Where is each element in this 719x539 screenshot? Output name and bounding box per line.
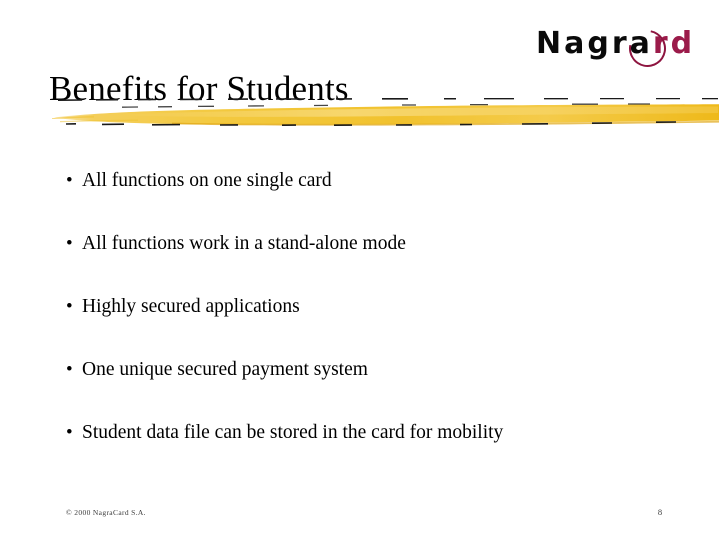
bullet-marker-icon: • — [66, 357, 82, 383]
bullet-list: •All functions on one single card •All f… — [66, 168, 686, 483]
list-item: •Student data file can be stored in the … — [66, 420, 686, 483]
footer-copyright: © 2000 NagraCard S.A. — [66, 508, 146, 518]
list-item-label: Highly secured applications — [82, 296, 300, 317]
logo-text-nagr: Nagr — [536, 26, 630, 61]
bullet-marker-icon: • — [66, 231, 82, 257]
bullet-marker-icon: • — [66, 294, 82, 320]
brush-stroke-decoration — [52, 98, 719, 134]
logo-wordmark: Nagrard — [536, 22, 695, 66]
list-item-label: Student data file can be stored in the c… — [82, 422, 503, 443]
list-item: •All functions work in a stand-alone mod… — [66, 231, 686, 294]
list-item: •Highly secured applications — [66, 294, 686, 357]
list-item: •One unique secured payment system — [66, 357, 686, 420]
slide-canvas: Nagrard Benefits for Students — [0, 0, 719, 539]
list-item-label: All functions work in a stand-alone mode — [82, 233, 406, 254]
brush-stroke-icon — [52, 98, 719, 134]
footer-page-number: 8 — [650, 507, 670, 518]
bullet-marker-icon: • — [66, 168, 82, 194]
list-item-label: One unique secured payment system — [82, 359, 368, 380]
list-item-label: All functions on one single card — [82, 170, 332, 191]
list-item: •All functions on one single card — [66, 168, 686, 231]
bullet-marker-icon: • — [66, 420, 82, 446]
nagrard-logo: Nagrard — [536, 22, 706, 74]
dashed-line-top — [58, 99, 718, 101]
